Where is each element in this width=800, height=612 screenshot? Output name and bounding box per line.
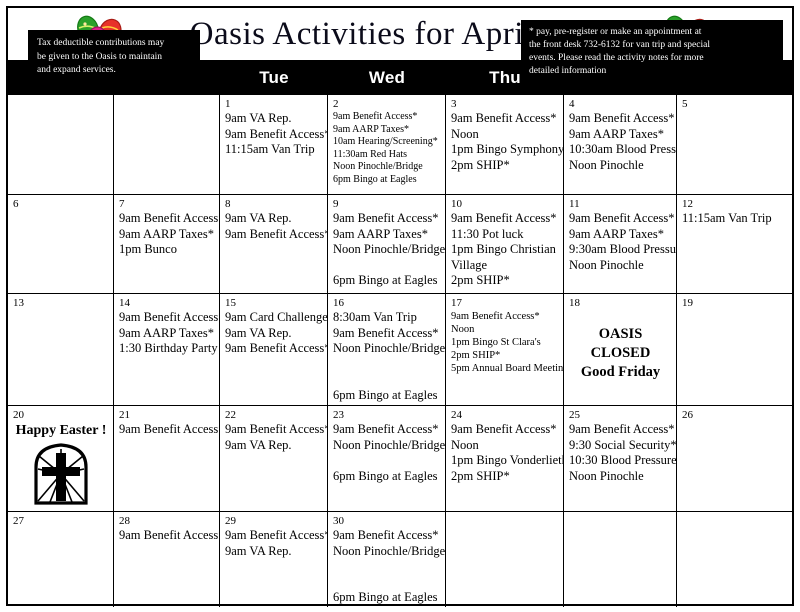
event-item[interactable]: Noon Pinochle/Bridge	[333, 544, 441, 560]
calendar-grid: 19am VA Rep.9am Benefit Access*11:15am V…	[8, 95, 792, 607]
day-number: 15	[225, 297, 323, 309]
event-spacer	[333, 372, 441, 388]
event-item[interactable]: 1pm Bingo Symphony	[451, 142, 559, 158]
event-item[interactable]: 10:30am Blood Pressure	[569, 142, 672, 158]
calendar-day-cell-6[interactable]: 6	[8, 195, 114, 293]
footnote-line: events. Please read the activity notes f…	[529, 52, 775, 65]
calendar-day-cell-22[interactable]: 229am Benefit Access*9am VA Rep.	[220, 406, 328, 511]
event-item[interactable]: 9am Benefit Access*	[119, 528, 215, 544]
calendar-day-cell-10[interactable]: 109am Benefit Access*11:30 Pot luck1pm B…	[446, 195, 564, 293]
day-number: 9	[333, 198, 441, 210]
event-item[interactable]: 9am Benefit Access*	[225, 528, 323, 544]
event-item[interactable]: 9:30 Social Security*	[569, 438, 672, 454]
event-item[interactable]: 5pm Annual Board Meeting	[451, 362, 559, 375]
calendar-day-cell-21[interactable]: 219am Benefit Access*	[114, 406, 220, 511]
event-item[interactable]: Noon	[451, 438, 559, 454]
event-item[interactable]: 9:30am Blood Pressure	[569, 242, 672, 258]
event-item[interactable]: 9am Benefit Access*	[451, 310, 559, 323]
calendar-day-cell-26[interactable]: 26	[677, 406, 792, 511]
registration-footnote: * pay, pre-register or make an appointme…	[521, 20, 783, 85]
day-number: 26	[682, 409, 788, 421]
event-item[interactable]: 9am VA Rep.	[225, 111, 323, 127]
event-item[interactable]: 9am Benefit Access*	[451, 422, 559, 438]
event-item[interactable]: 1pm Bingo Vonderlieth	[451, 453, 559, 469]
calendar-week-row: 19am VA Rep.9am Benefit Access*11:15am V…	[8, 95, 792, 195]
event-item[interactable]: 9am Benefit Access*	[333, 422, 441, 438]
day-number: 28	[119, 515, 215, 527]
event-item[interactable]: 6pm Bingo at Eagles	[333, 469, 441, 485]
calendar-day-cell-27[interactable]: 27	[8, 512, 114, 607]
event-item[interactable]: 9am Benefit Access*	[333, 528, 441, 544]
calendar-day-cell-5[interactable]: 5	[677, 95, 792, 194]
event-spacer	[333, 575, 441, 591]
calendar-frame: Oasis Activities for April 2014	[6, 6, 794, 606]
calendar-day-cell-11[interactable]: 119am Benefit Access*9am AARP Taxes*9:30…	[564, 195, 677, 293]
event-item[interactable]: Noon	[451, 127, 559, 143]
day-number: 12	[682, 198, 788, 210]
footnote-line: detailed information	[529, 65, 775, 78]
event-item[interactable]: 9am Benefit Access*	[119, 310, 215, 326]
closed-notice-line: OASIS CLOSED	[569, 325, 672, 363]
weekday-header-wed: Wed	[328, 62, 446, 94]
event-item[interactable]: Village	[451, 258, 559, 274]
event-item[interactable]: 6pm Bingo at Eagles	[333, 388, 441, 404]
event-item[interactable]: 1pm Bingo St Clara's	[451, 336, 559, 349]
event-item[interactable]: Noon Pinochle	[569, 258, 672, 274]
event-item[interactable]: 9am Benefit Access*	[569, 211, 672, 227]
day-number: 13	[13, 297, 109, 309]
day-number: 16	[333, 297, 441, 309]
day-number: 6	[13, 198, 109, 210]
tax-note-line: and expand services.	[37, 64, 191, 78]
calendar-day-cell-1[interactable]: 19am VA Rep.9am Benefit Access*11:15am V…	[220, 95, 328, 194]
day-number: 8	[225, 198, 323, 210]
event-item[interactable]: 2pm SHIP*	[451, 158, 559, 174]
event-item[interactable]: 9am Benefit Access*	[119, 422, 215, 438]
event-item[interactable]: 9am Benefit Access*	[119, 211, 215, 227]
day-number: 23	[333, 409, 441, 421]
calendar-day-cell-7[interactable]: 79am Benefit Access*9am AARP Taxes*1pm B…	[114, 195, 220, 293]
stained-glass-cross-icon	[32, 443, 90, 505]
calendar-day-cell-18[interactable]: 18OASIS CLOSEDGood Friday	[564, 294, 677, 405]
calendar-page: Oasis Activities for April 2014	[0, 0, 800, 612]
calendar-day-cell-24[interactable]: 249am Benefit Access*Noon1pm Bingo Vonde…	[446, 406, 564, 511]
day-number: 24	[451, 409, 559, 421]
day-number: 18	[569, 297, 672, 309]
event-item[interactable]: Noon Pinochle/Bridge	[333, 242, 441, 258]
event-item[interactable]: Noon Pinochle	[569, 469, 672, 485]
event-item[interactable]: 9am AARP Taxes*	[119, 227, 215, 243]
event-spacer	[333, 559, 441, 575]
event-item[interactable]: 9am AARP Taxes*	[569, 127, 672, 143]
event-item[interactable]: 6pm Bingo at Eagles	[333, 174, 441, 187]
calendar-week-row: 679am Benefit Access*9am AARP Taxes*1pm …	[8, 195, 792, 294]
calendar-day-cell-16[interactable]: 168:30am Van Trip9am Benefit Access*Noon…	[328, 294, 446, 405]
event-item[interactable]: 9am Benefit Access*	[225, 127, 323, 143]
event-item[interactable]: 1pm Bunco	[119, 242, 215, 258]
event-item[interactable]: 11:15am Van Trip	[682, 211, 788, 227]
tax-note-line: Tax deductible contributions may	[37, 37, 191, 51]
calendar-day-cell-30[interactable]: 309am Benefit Access*Noon Pinochle/Bridg…	[328, 512, 446, 607]
calendar-day-cell-19[interactable]: 19	[677, 294, 792, 405]
day-number: 7	[119, 198, 215, 210]
day-number: 22	[225, 409, 323, 421]
calendar-week-row: 13149am Benefit Access*9am AARP Taxes*1:…	[8, 294, 792, 406]
tax-note-line: be given to the Oasis to maintain	[37, 51, 191, 65]
event-spacer	[333, 357, 441, 373]
happy-easter-label: Happy Easter !	[13, 423, 109, 439]
calendar-day-cell-8[interactable]: 89am VA Rep.9am Benefit Access*	[220, 195, 328, 293]
calendar-day-cell-12[interactable]: 1211:15am Van Trip	[677, 195, 792, 293]
calendar-day-cell-4[interactable]: 49am Benefit Access*9am AARP Taxes*10:30…	[564, 95, 677, 194]
event-item[interactable]: 9am Benefit Access*	[225, 227, 323, 243]
day-number: 11	[569, 198, 672, 210]
weekday-header-tue: Tue	[220, 62, 328, 94]
event-item[interactable]: 6pm Bingo at Eagles	[333, 273, 441, 289]
day-number: 2	[333, 98, 441, 110]
calendar-day-cell-9[interactable]: 99am Benefit Access*9am AARP Taxes*Noon …	[328, 195, 446, 293]
event-item[interactable]: 6pm Bingo at Eagles	[333, 590, 441, 606]
event-item[interactable]: 1pm Bingo Christian	[451, 242, 559, 258]
event-item[interactable]: 10:30 Blood Pressure*	[569, 453, 672, 469]
event-item[interactable]: 9am Benefit Access*	[225, 422, 323, 438]
footnote-line: * pay, pre-register or make an appointme…	[529, 26, 775, 39]
event-item[interactable]: 9am VA Rep.	[225, 438, 323, 454]
day-number: 29	[225, 515, 323, 527]
tax-deductible-note: Tax deductible contributions maybe given…	[28, 30, 200, 86]
event-item[interactable]: 9am Benefit Access*	[451, 211, 559, 227]
event-item[interactable]: 9am AARP Taxes*	[119, 326, 215, 342]
day-number: 19	[682, 297, 788, 309]
event-item[interactable]: 9am AARP Taxes*	[569, 227, 672, 243]
calendar-day-cell-15[interactable]: 159am Card Challenge9am VA Rep.9am Benef…	[220, 294, 328, 405]
event-item[interactable]: 9am Benefit Access*	[333, 211, 441, 227]
calendar-day-cell-2[interactable]: 29am Benefit Access*9am AARP Taxes*10am …	[328, 95, 446, 194]
calendar-day-cell-23[interactable]: 239am Benefit Access*Noon Pinochle/Bridg…	[328, 406, 446, 511]
event-item[interactable]: 9am VA Rep.	[225, 544, 323, 560]
calendar-day-cell-13[interactable]: 13	[8, 294, 114, 405]
event-item[interactable]: Noon Pinochle/Bridge	[333, 161, 441, 174]
event-item[interactable]: 10am Hearing/Screening*	[333, 136, 441, 149]
day-number: 27	[13, 515, 109, 527]
event-item[interactable]: 9am Benefit Access*	[451, 111, 559, 127]
event-item[interactable]: 9am Benefit Access*	[333, 111, 441, 124]
event-item[interactable]: 9am VA Rep.	[225, 326, 323, 342]
event-item[interactable]: 8:30am Van Trip	[333, 310, 441, 326]
calendar-day-cell-empty[interactable]	[446, 512, 564, 607]
event-spacer	[333, 258, 441, 274]
footnote-line: the front desk 732-6132 for van trip and…	[529, 39, 775, 52]
event-item[interactable]: 9am Card Challenge	[225, 310, 323, 326]
calendar-day-cell-25[interactable]: 259am Benefit Access*9:30 Social Securit…	[564, 406, 677, 511]
calendar-day-cell-3[interactable]: 39am Benefit Access*Noon1pm Bingo Sympho…	[446, 95, 564, 194]
calendar-day-cell-empty[interactable]	[114, 95, 220, 194]
event-item[interactable]: 9am AARP Taxes*	[333, 124, 441, 137]
closed-notice-line: Good Friday	[569, 363, 672, 382]
event-item[interactable]: 2pm SHIP*	[451, 273, 559, 289]
event-item[interactable]: 9am Benefit Access*	[569, 422, 672, 438]
event-item[interactable]: Noon Pinochle/Bridge	[333, 341, 441, 357]
calendar-day-cell-14[interactable]: 149am Benefit Access*9am AARP Taxes*1:30…	[114, 294, 220, 405]
event-item[interactable]: 9am Benefit Access*	[569, 111, 672, 127]
event-item[interactable]: 9am AARP Taxes*	[333, 227, 441, 243]
event-item[interactable]: Noon Pinochle	[569, 158, 672, 174]
event-item[interactable]: Noon Pinochle/Bridge	[333, 438, 441, 454]
calendar-day-cell-empty[interactable]	[564, 512, 677, 607]
day-number: 14	[119, 297, 215, 309]
calendar-day-cell-20[interactable]: 20Happy Easter !	[8, 406, 114, 511]
calendar-day-cell-empty[interactable]	[8, 95, 114, 194]
calendar-day-cell-empty[interactable]	[677, 512, 792, 607]
event-item[interactable]: Noon	[451, 323, 559, 336]
day-number: 5	[682, 98, 788, 110]
day-number: 30	[333, 515, 441, 527]
day-number: 4	[569, 98, 672, 110]
day-number: 21	[119, 409, 215, 421]
event-item[interactable]: 9am VA Rep.	[225, 211, 323, 227]
calendar-week-row: 20Happy Easter !219am Benefit Access*229…	[8, 406, 792, 512]
event-spacer	[333, 453, 441, 469]
day-number: 1	[225, 98, 323, 110]
day-number: 20	[13, 409, 109, 421]
event-item[interactable]: 11:30 Pot luck	[451, 227, 559, 243]
day-number: 10	[451, 198, 559, 210]
calendar-day-cell-28[interactable]: 289am Benefit Access*	[114, 512, 220, 607]
calendar-day-cell-29[interactable]: 299am Benefit Access*9am VA Rep.	[220, 512, 328, 607]
event-item[interactable]: 2pm SHIP*	[451, 349, 559, 362]
event-item[interactable]: 9am Benefit Access*	[225, 341, 323, 357]
event-item[interactable]: 1:30 Birthday Party	[119, 341, 215, 357]
calendar-day-cell-17[interactable]: 179am Benefit Access*Noon1pm Bingo St Cl…	[446, 294, 564, 405]
event-item[interactable]: 9am Benefit Access*	[333, 326, 441, 342]
event-item[interactable]: 2pm SHIP*	[451, 469, 559, 485]
day-number: 25	[569, 409, 672, 421]
day-number: 17	[451, 297, 559, 309]
event-item[interactable]: 11:15am Van Trip	[225, 142, 323, 158]
calendar-week-row: 27289am Benefit Access*299am Benefit Acc…	[8, 512, 792, 607]
event-item[interactable]: 11:30am Red Hats	[333, 149, 441, 162]
day-number: 3	[451, 98, 559, 110]
